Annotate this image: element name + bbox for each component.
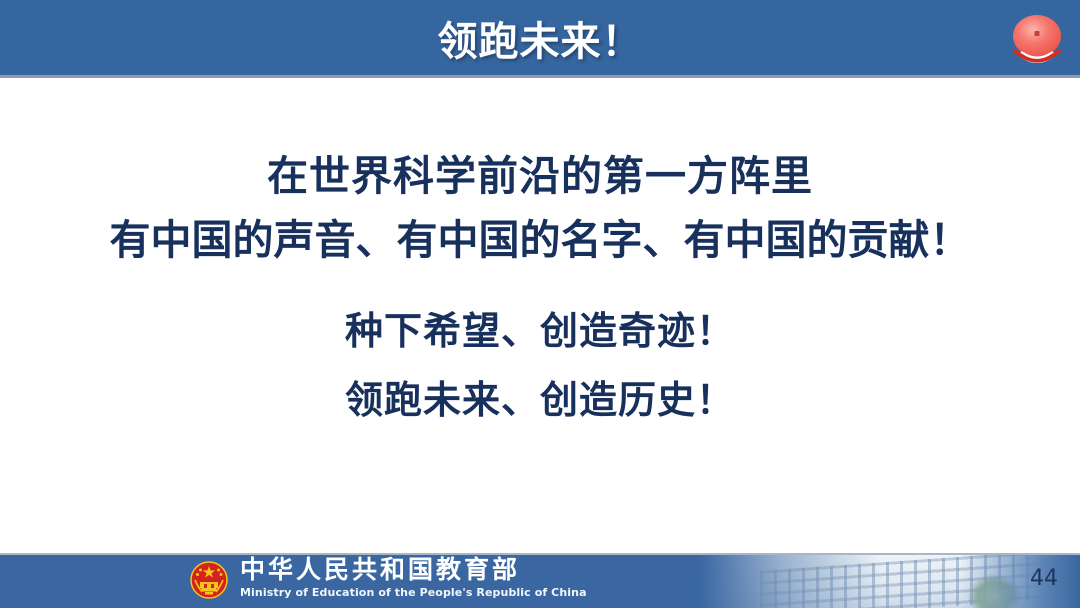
body-line-1: 在世界科学前沿的第一方阵里 bbox=[0, 152, 1080, 200]
slide-content-area: 在世界科学前沿的第一方阵里 有中国的声音、有中国的名字、有中国的贡献！ 种下希望… bbox=[0, 78, 1080, 553]
ministry-name-cn: 中华人民共和国教育部 bbox=[240, 556, 720, 584]
body-line-4: 领跑未来、创造历史！ bbox=[0, 378, 1080, 423]
page-number: 44 bbox=[1030, 566, 1058, 591]
ministry-building-photo bbox=[700, 555, 1080, 608]
ministry-name-en: Ministry of Education of the People's Re… bbox=[240, 586, 720, 599]
ministry-branding: 中华人民共和国教育部 Ministry of Education of the … bbox=[240, 556, 720, 599]
presentation-slide: 领跑未来！ bbox=[0, 0, 1080, 608]
slide-title: 领跑未来！ bbox=[0, 0, 1080, 75]
body-line-3: 种下希望、创造奇迹！ bbox=[0, 309, 1080, 354]
china-national-emblem-icon bbox=[190, 560, 228, 600]
red-dome-smile-logo bbox=[1006, 8, 1068, 72]
slide-header-bar: 领跑未来！ bbox=[0, 0, 1080, 78]
body-line-2: 有中国的声音、有中国的名字、有中国的贡献！ bbox=[0, 216, 1080, 264]
